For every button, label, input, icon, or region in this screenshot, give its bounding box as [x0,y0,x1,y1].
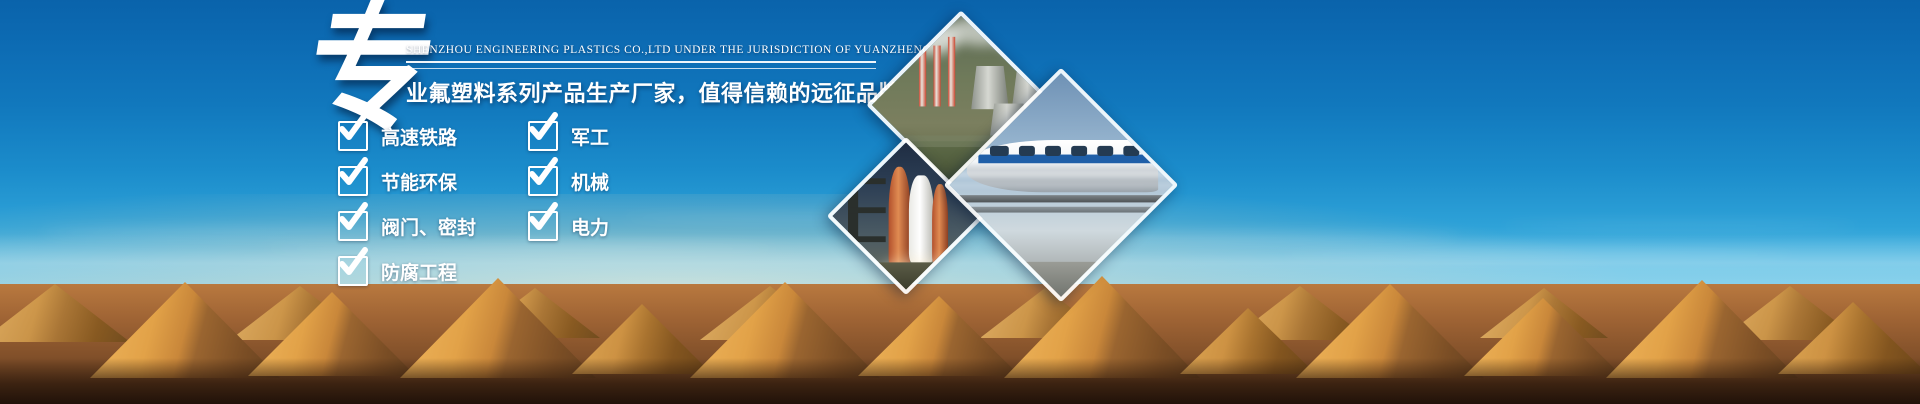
feature-item: 机械 [528,165,609,197]
check-icon [338,166,368,196]
headline-block: SHENZHOU ENGINEERING PLASTICS CO.,LTD UN… [406,44,876,108]
check-icon [528,121,558,151]
feature-item: 电力 [528,210,609,242]
hero-banner: 专 SHENZHOU ENGINEERING PLASTICS CO.,LTD … [0,0,1920,404]
feature-label: 节能环保 [381,168,457,195]
chinese-tagline: 业氟塑料系列产品生产厂家，值得信赖的远征品牌 [406,76,876,108]
english-tagline: SHENZHOU ENGINEERING PLASTICS CO.,LTD UN… [406,44,876,56]
feature-label: 阀门、密封 [381,213,476,240]
check-icon [528,211,558,241]
feature-label: 防腐工程 [381,258,457,285]
diamond-photo-group [830,22,1230,312]
feature-label: 军工 [571,123,609,150]
check-icon [338,121,368,151]
feature-label: 机械 [571,168,609,195]
check-icon [528,166,558,196]
check-icon [338,211,368,241]
feature-label: 高速铁路 [381,123,457,150]
feature-item: 高速铁路 [338,120,476,152]
feature-label: 电力 [571,213,609,240]
feature-item: 节能环保 [338,165,476,197]
feature-column-right: 军工 机械 电力 [528,120,609,287]
feature-item: 阀门、密封 [338,210,476,242]
divider-rule [406,61,876,69]
feature-item: 军工 [528,120,609,152]
feature-list: 高速铁路 节能环保 阀门、密封 防腐工程 [338,120,609,287]
feature-item: 防腐工程 [338,255,476,287]
check-icon [338,256,368,286]
feature-column-left: 高速铁路 节能环保 阀门、密封 防腐工程 [338,120,476,287]
foreground-shadow [0,358,1920,404]
